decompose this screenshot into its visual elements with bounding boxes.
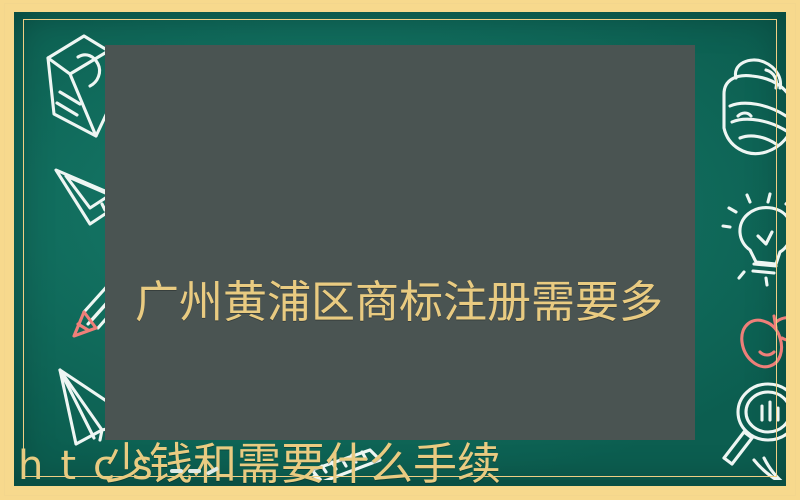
poster-card: 广州黄浦区商标注册需要多 少钱和需要什么手续 h t c s — [0, 0, 800, 500]
watermark-char-c: c — [93, 446, 115, 486]
magnifier-icon — [718, 378, 786, 470]
watermark-dash-1 — [170, 469, 183, 473]
watermark-char-h: h — [18, 446, 43, 486]
apple-icon — [736, 308, 786, 372]
watermark-char-t: t — [60, 446, 76, 486]
lightbulb-icon — [726, 194, 786, 280]
watermark-dash-2 — [188, 469, 201, 473]
page-title-line-1: 广州黄浦区商标注册需要多 — [105, 276, 705, 330]
watermark-letters: h t c s — [18, 446, 224, 486]
watermark-dash-3 — [206, 466, 219, 476]
backpack-icon — [706, 54, 786, 162]
watermark-char-s: s — [132, 446, 153, 486]
